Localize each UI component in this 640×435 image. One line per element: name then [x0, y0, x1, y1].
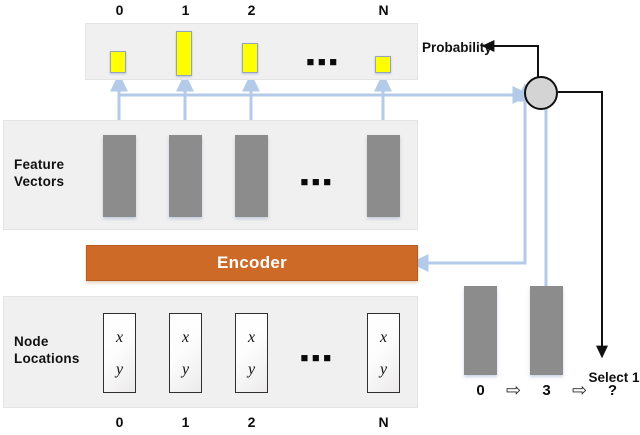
top-index-0: 0	[103, 2, 136, 18]
feature-bar-2	[235, 135, 268, 217]
sequence-item-1: 3	[530, 382, 563, 400]
probability-output-arrow	[492, 46, 538, 78]
feature-vectors-label-line2: Vectors	[14, 173, 94, 190]
encoder-block[interactable]: Encoder	[86, 245, 418, 281]
probability-bar-n	[375, 56, 391, 73]
feature-vectors-label-line1: Feature	[14, 156, 94, 173]
bottom-index-n: N	[367, 414, 400, 430]
sequence-arrow-icon-1: ⇨	[497, 381, 530, 399]
select-output-arrow	[558, 92, 602, 348]
top-index-n: N	[367, 2, 400, 18]
diagram-canvas: 0 1 2 N ▪▪▪ Probability Feature Vectors …	[0, 0, 640, 435]
probability-bar-0	[110, 51, 126, 73]
top-index-2: 2	[235, 2, 268, 18]
feature-bar-1	[169, 135, 202, 217]
encoder-feedback-arrow	[425, 98, 525, 263]
probability-bar-1	[176, 31, 192, 76]
bottom-index-0: 0	[103, 414, 136, 430]
feature-bar-n	[367, 135, 400, 217]
node-location-box-0: x y	[103, 313, 136, 393]
select-label: Select 1	[588, 370, 640, 386]
feature-bar-0	[103, 135, 136, 217]
node-locations-label-line2: Locations	[14, 350, 104, 367]
node-location-x-n: x	[380, 330, 387, 345]
probability-bar-2	[242, 43, 258, 73]
node-locations-ellipsis: ▪▪▪	[300, 353, 346, 363]
node-location-box-1: x y	[169, 313, 202, 393]
bottom-index-1: 1	[169, 414, 202, 430]
node-location-x-0: x	[116, 330, 123, 345]
probability-panel-ellipsis: ▪▪▪	[306, 57, 346, 67]
node-locations-label-line1: Node	[14, 333, 104, 350]
node-location-x-2: x	[248, 330, 255, 345]
node-location-x-1: x	[182, 330, 189, 345]
node-location-y-1: y	[182, 362, 189, 377]
sequence-item-0: 0	[464, 382, 497, 400]
history-bar-1	[530, 286, 563, 375]
node-location-box-n: x y	[367, 313, 400, 393]
node-location-y-n: y	[380, 362, 387, 377]
bottom-index-2: 2	[235, 414, 268, 430]
node-location-y-2: y	[248, 362, 255, 377]
history-bar-0	[464, 286, 497, 375]
feature-vectors-ellipsis: ▪▪▪	[300, 177, 346, 187]
node-locations-label: Node Locations	[14, 333, 104, 367]
node-location-box-2: x y	[235, 313, 268, 393]
decoder-state-node[interactable]	[524, 76, 558, 110]
probability-label: Probability	[422, 40, 492, 56]
top-index-1: 1	[169, 2, 202, 18]
feature-vectors-label: Feature Vectors	[14, 156, 94, 190]
node-location-y-0: y	[116, 362, 123, 377]
